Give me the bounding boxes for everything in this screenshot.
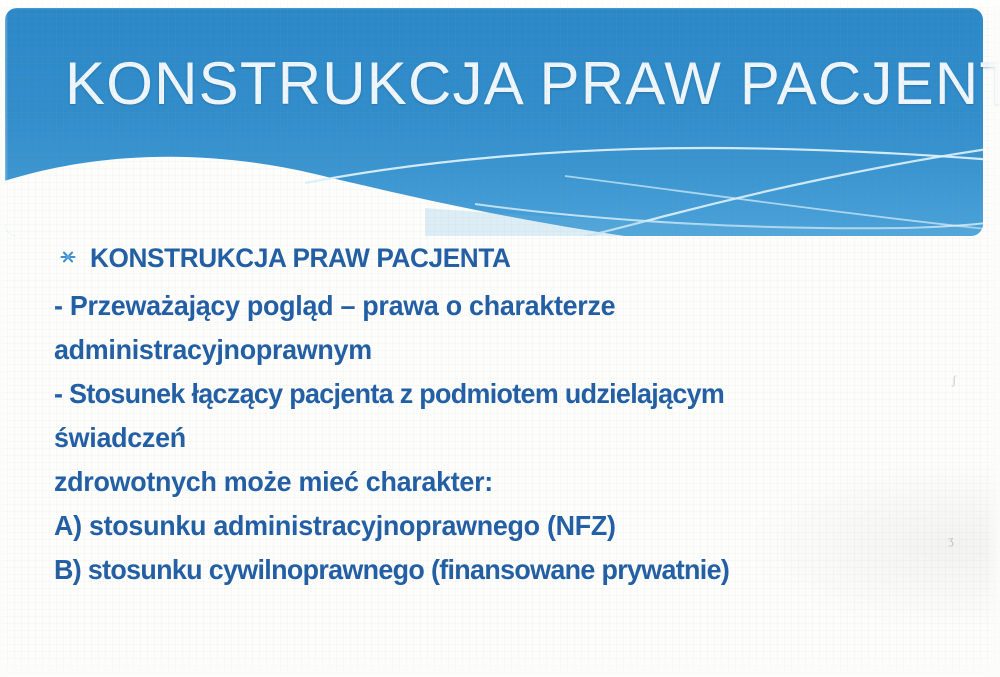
body-line-6: A) stosunku administracyjnoprawnego (NFZ… bbox=[54, 504, 962, 548]
asterisk-bullet-icon bbox=[58, 247, 78, 267]
bullet-heading-row: KONSTRUKCJA PRAW PACJENTA bbox=[58, 240, 1000, 276]
page-title: KONSTRUKCJA PRAW PACJENTA bbox=[65, 52, 965, 115]
body-line-1: - Przeważający pogląd – prawa o charakte… bbox=[54, 284, 962, 328]
scan-speck-lower: ʒ bbox=[948, 532, 954, 548]
body-line-7: B) stosunku cywilnoprawnego (finansowane… bbox=[54, 548, 962, 592]
header-banner: KONSTRUKCJA PRAW PACJENTA bbox=[5, 8, 983, 236]
body-line-4: świadczeń bbox=[54, 416, 962, 460]
slide-body: KONSTRUKCJA PRAW PACJENTA - Przeważający… bbox=[0, 240, 1000, 592]
body-heading: KONSTRUKCJA PRAW PACJENTA bbox=[90, 243, 511, 274]
body-line-3: - Stosunek łączący pacjenta z podmiotem … bbox=[54, 372, 962, 416]
body-line-5: zdrowotnych może mieć charakter: bbox=[54, 460, 962, 504]
scan-speck-upper: ʃ bbox=[952, 372, 956, 388]
body-line-2: administracyjnoprawnym bbox=[54, 328, 962, 372]
slide-canvas: KONSTRUKCJA PRAW PACJENTA KONSTRUKCJA PR… bbox=[0, 0, 1000, 677]
